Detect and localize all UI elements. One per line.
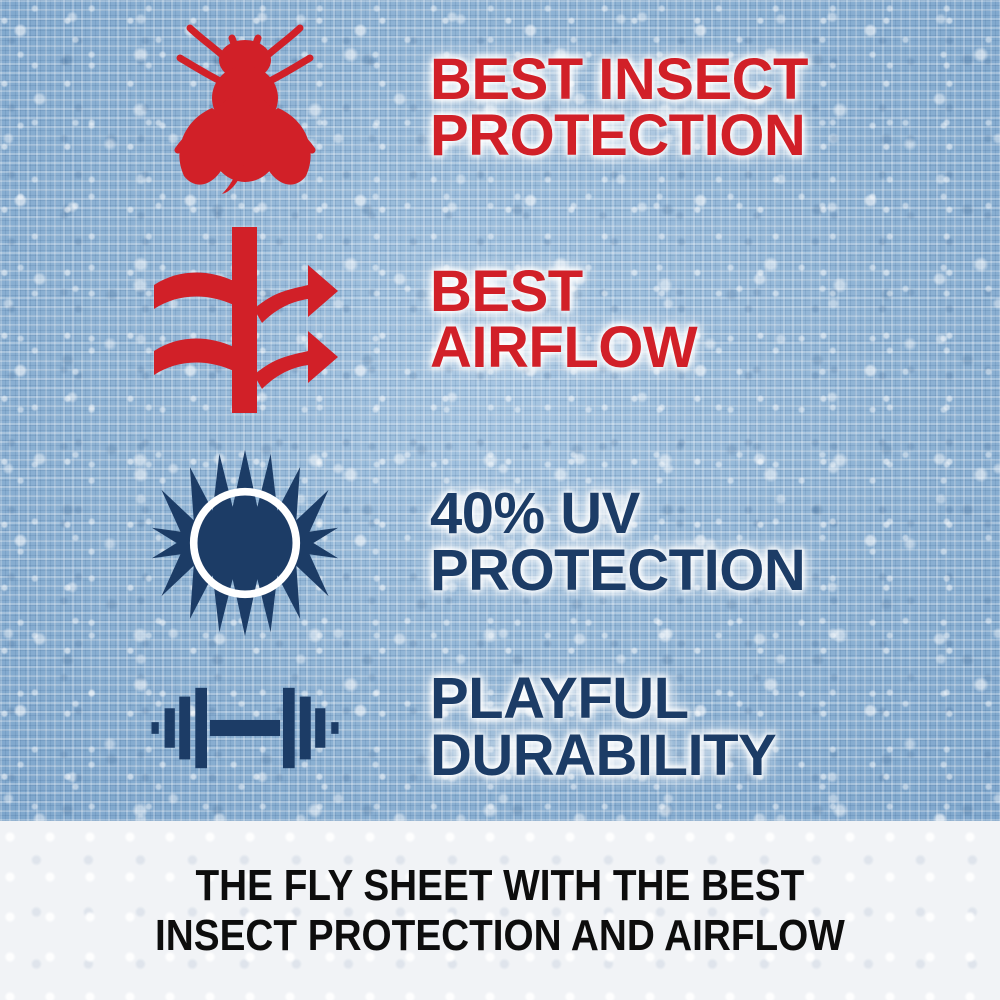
feature-label-insect-protection: BEST INSECT PROTECTION [430,52,808,165]
product-feature-poster: BEST INSECT PROTECTION BEST AIRFLOW [0,0,1000,1000]
feature-label-uv-protection: 40% UV PROTECTION [430,486,805,599]
caption-band: THE FLY SHEET WITH THE BEST INSECT PROTE… [0,821,1000,1000]
caption-text: THE FLY SHEET WITH THE BEST INSECT PROTE… [143,861,857,960]
feature-label-durability: PLAYFUL DURABILITY [430,671,776,784]
sun-uv-icon [150,443,340,643]
feature-row-uv-protection: 40% UV PROTECTION [150,435,1000,650]
feature-row-insect-protection: BEST INSECT PROTECTION [150,8,1000,208]
feature-label-airflow: BEST AIRFLOW [430,264,697,377]
feature-row-airflow: BEST AIRFLOW [150,215,1000,425]
feature-row-durability: PLAYFUL DURABILITY [150,645,1000,810]
dumbbell-icon [150,658,340,798]
fly-icon [150,16,340,201]
feature-list: BEST INSECT PROTECTION BEST AIRFLOW [0,0,1000,821]
airflow-arrows-icon [150,223,340,418]
